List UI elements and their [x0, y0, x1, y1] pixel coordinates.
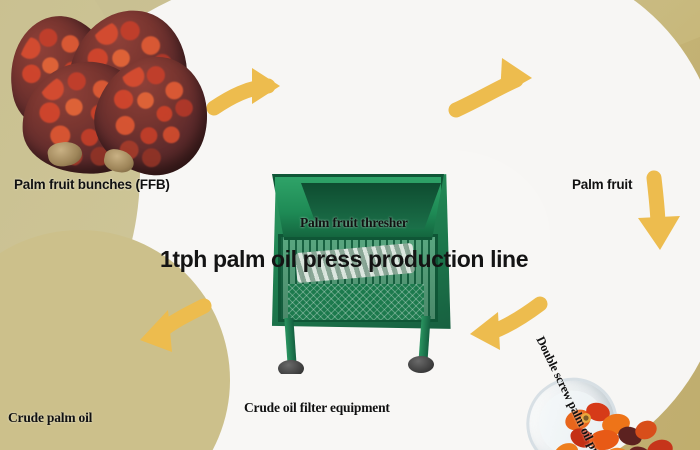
palm-fruit-bunches-photo [8, 10, 208, 180]
label-palm-fruit-bunches: Palm fruit bunches (FFB) [14, 177, 170, 192]
page-title: 1tph palm oil press production line [160, 246, 528, 273]
loose-fruit-cluster [520, 376, 692, 450]
palm-fruit-thresher-photo [262, 174, 454, 374]
label-crude-oil-filter-equipment: Crude oil filter equipment [244, 400, 390, 416]
palm-fruit-photo [520, 376, 692, 450]
thresher-wheel [408, 356, 434, 373]
label-palm-fruit-thresher: Palm fruit thresher [300, 215, 408, 231]
production-line-diagram: Palm fruit bunches (FFB) Palm fruit thre… [0, 0, 700, 450]
thresher-wheel [278, 360, 304, 374]
label-palm-fruit: Palm fruit [572, 177, 632, 192]
thresher-mesh [288, 284, 424, 320]
label-crude-palm-oil: Crude palm oil [8, 410, 92, 426]
